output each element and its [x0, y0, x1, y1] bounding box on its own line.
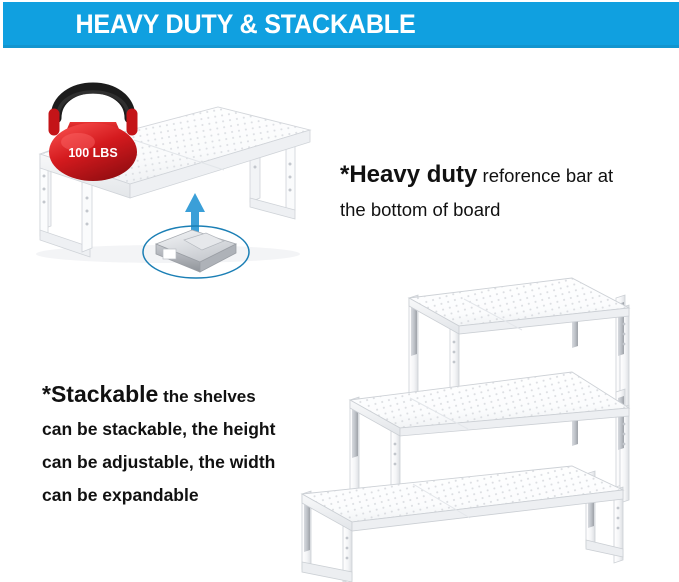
heavy-duty-line-1-rest: reforence bar at	[477, 165, 613, 186]
reinforcement-bar-callout	[140, 222, 252, 284]
heavy-duty-emphasis: Heavy duty	[349, 161, 477, 188]
heavy-duty-feature-text: *Heavy duty reforence bar at the bottom …	[340, 158, 670, 227]
stackable-marker: *	[42, 381, 51, 407]
header-banner: HEAVY DUTY & STACKABLE	[3, 2, 679, 47]
kettlebell-weight-label: 100 LBS	[68, 146, 117, 160]
stackable-body-line-1: can be stackable, the height	[42, 413, 342, 446]
stackable-body-line-3: can be expandable	[42, 479, 342, 512]
kettlebell-illustration: 100 LBS	[49, 88, 137, 181]
stackable-line-1-rest: the shelves	[158, 387, 255, 406]
stackable-line-1: *Stackable the shelves	[42, 378, 342, 413]
heavy-duty-line-1: *Heavy duty reforence bar at	[340, 158, 670, 193]
reinforcement-bar-detail	[156, 230, 236, 272]
heavy-duty-marker: *	[340, 161, 349, 188]
stackable-emphasis: Stackable	[51, 381, 158, 407]
stacked-shelves-illustration	[298, 268, 679, 582]
header-banner-underline	[3, 45, 679, 48]
stackable-body-line-2: can be adjustable, the width	[42, 446, 342, 479]
stackable-feature-text: *Stackable the shelves can be stackable,…	[42, 378, 342, 512]
heavy-duty-line-2: the bottom of board	[340, 193, 670, 227]
page-title: HEAVY DUTY & STACKABLE	[20, 2, 471, 47]
